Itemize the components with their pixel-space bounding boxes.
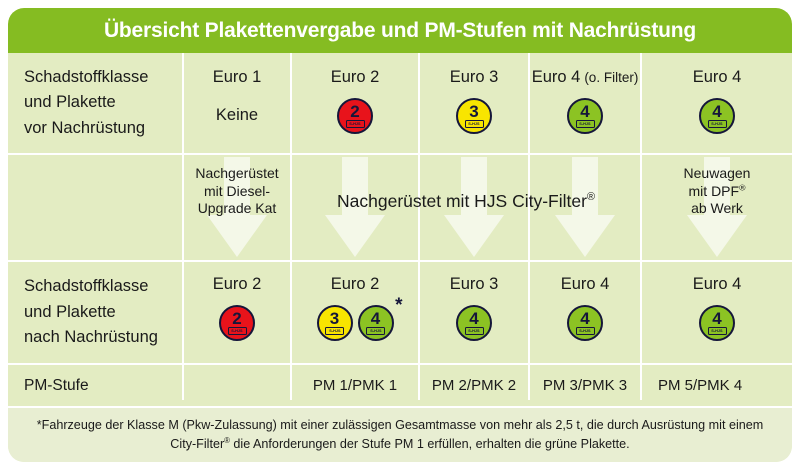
plakette-badge-green-4: 4 S-HJS: [567, 98, 603, 134]
footnote-line-1: *Fahrzeuge der Klasse M (Pkw-Zulassung) …: [37, 416, 764, 435]
cell-after-col1: Euro 2 2 S-HJS: [184, 262, 290, 363]
plakette-number: 4: [712, 104, 721, 119]
row-label-before-line3: vor Nachrüstung: [24, 116, 145, 142]
plakette-plate: S-HJS: [576, 327, 595, 335]
page-title: Übersicht Plakettenvergabe und PM-Stufen…: [104, 19, 696, 43]
plakette-plate: S-HJS: [346, 120, 365, 128]
cell-pm-col1: [184, 365, 290, 406]
cell-before-euro2: Euro 2 2 S-HJS: [292, 53, 418, 153]
row-separator-1: [8, 153, 792, 155]
plakette-group: 4 S-HJS: [699, 98, 735, 134]
plakette-group: 4 S-HJS: [567, 98, 603, 134]
euro-class-label: Euro 4: [693, 69, 742, 86]
plakette-number: 3: [469, 104, 478, 119]
footnote-line-2-a: City-Filter: [170, 437, 224, 451]
row-label-before-line1: Schadstoffklasse: [24, 65, 148, 91]
cell-pm-col3: PM 2/PMK 2: [420, 365, 528, 406]
plakette-badge-yellow-3: 3 S-HJS: [456, 98, 492, 134]
cell-pm-col4: PM 3/PMK 3: [530, 365, 640, 406]
pm-stufe-label: PM-Stufe: [24, 377, 89, 395]
footnote-line-2-b: die Anforderungen der Stufe PM 1 erfülle…: [230, 437, 630, 451]
cell-after-col4: Euro 4 4 S-HJS: [530, 262, 640, 363]
cell-after-col3: Euro 3 4 S-HJS: [420, 262, 528, 363]
cell-before-euro4: Euro 4 4 S-HJS: [642, 53, 792, 153]
plakette-plate: S-HJS: [465, 120, 484, 128]
plakette-plate: S-HJS: [576, 120, 595, 128]
row-label-after-line2: und Plakette: [24, 300, 116, 326]
plakette-group: 2 S-HJS: [219, 305, 255, 341]
retrofit-caption-line3: ab Werk: [642, 200, 792, 218]
registered-mark-icon: ®: [587, 191, 595, 203]
plakette-plate: S-HJS: [325, 327, 344, 335]
row-label-after-line1: Schadstoffklasse: [24, 274, 148, 300]
plakette-plate-text: S-HJS: [579, 329, 590, 333]
plakette-plate-text: S-HJS: [711, 122, 722, 126]
plakette-badge-red-2: 2 S-HJS: [219, 305, 255, 341]
footnote-block: *Fahrzeuge der Klasse M (Pkw-Zulassung) …: [8, 408, 792, 462]
footnote-line-2: City-Filter® die Anforderungen der Stufe…: [170, 435, 629, 454]
retrofit-caption-neuwagen-dpf: Neuwagen mit DPF® ab Werk: [642, 165, 792, 218]
plakette-group: 3 S-HJS: [456, 98, 492, 134]
plakette-number: 4: [580, 104, 589, 119]
plakette-group: 3 S-HJS 4 S-HJS *: [317, 305, 394, 341]
plakette-group: 2 S-HJS: [337, 98, 373, 134]
plakette-badge-green-4: 4 S-HJS: [699, 305, 735, 341]
retrofit-caption-line3: Upgrade Kat: [184, 200, 290, 218]
plakette-badge-yellow-3: 3 S-HJS: [317, 305, 353, 341]
plakette-number: 3: [330, 311, 339, 326]
row-label-before-line2: und Plakette: [24, 90, 116, 116]
plakette-badge-green-4: 4 S-HJS: [699, 98, 735, 134]
row-label-before-retrofit: Schadstoffklasse und Plakette vor Nachrü…: [8, 53, 182, 153]
plakette-none-label: Keine: [216, 106, 258, 125]
plakette-number: 4: [469, 311, 478, 326]
euro-class-label: Euro 3: [450, 69, 499, 86]
retrofit-caption-diesel-upgrade-kat: Nachgerüstet mit Diesel- Upgrade Kat: [184, 165, 290, 218]
euro-class-label: Euro 4(o. Filter): [532, 69, 639, 86]
retrofit-caption-line1: Neuwagen: [642, 165, 792, 183]
title-bar: Übersicht Plakettenvergabe und PM-Stufen…: [8, 8, 792, 53]
plakette-plate-text: S-HJS: [370, 329, 381, 333]
plakette-group: 4 S-HJS: [567, 305, 603, 341]
cell-before-euro1: Euro 1 Keine: [184, 53, 290, 153]
euro-class-label: Euro 2: [331, 69, 380, 86]
plakette-number: 4: [371, 311, 380, 326]
plakette-plate: S-HJS: [366, 327, 385, 335]
cell-pm-col2: PM 1/PMK 1: [292, 365, 418, 406]
infographic-root: Übersicht Plakettenvergabe und PM-Stufen…: [0, 0, 800, 470]
retrofit-caption-line2-text: mit DPF: [689, 183, 740, 199]
plakette-plate-text: S-HJS: [349, 122, 360, 126]
euro-class-label: Euro 4: [693, 276, 742, 293]
footnote-asterisk-marker: *: [395, 300, 402, 312]
euro-class-main: Euro 4: [532, 68, 581, 86]
plakette-number: 4: [712, 311, 721, 326]
plakette-number: 2: [350, 104, 359, 119]
pm-value: PM 3/PMK 3: [543, 377, 627, 394]
cell-before-euro3: Euro 3 3 S-HJS: [420, 53, 528, 153]
table-grid: Schadstoffklasse und Plakette vor Nachrü…: [8, 53, 792, 408]
plakette-plate: S-HJS: [708, 327, 727, 335]
plakette-group: 4 S-HJS: [699, 305, 735, 341]
plakette-plate-text: S-HJS: [231, 329, 242, 333]
infographic-card: Übersicht Plakettenvergabe und PM-Stufen…: [8, 8, 792, 462]
euro-class-sub: (o. Filter): [584, 70, 638, 85]
retrofit-banner-text: Nachgerüstet mit HJS City-Filter: [337, 191, 587, 211]
retrofit-caption-line1: Nachgerüstet: [184, 165, 290, 183]
plakette-number: 2: [232, 311, 241, 326]
cell-after-col5: Euro 4 4 S-HJS: [642, 262, 792, 363]
pm-value: PM 5/PMK 4: [658, 377, 742, 394]
plakette-plate-text: S-HJS: [579, 122, 590, 126]
plakette-plate-text: S-HJS: [711, 329, 722, 333]
retrofit-banner-hjs-city-filter: Nachgerüstet mit HJS City-Filter®: [292, 191, 640, 212]
plakette-plate-text: S-HJS: [468, 122, 479, 126]
registered-mark-icon: ®: [739, 182, 745, 192]
plakette-badge-green-4: 4 S-HJS: [456, 305, 492, 341]
cell-before-euro4-ohne-filter: Euro 4(o. Filter) 4 S-HJS: [530, 53, 640, 153]
euro-class-label: Euro 2: [331, 276, 380, 293]
row-label-after-retrofit: Schadstoffklasse und Plakette nach Nachr…: [8, 262, 182, 363]
plakette-plate-text: S-HJS: [329, 329, 340, 333]
pm-value: PM 2/PMK 2: [432, 377, 516, 394]
row-label-pm-stufe: PM-Stufe: [8, 365, 182, 406]
plakette-badge-green-4: 4 S-HJS: [567, 305, 603, 341]
retrofit-caption-line2: mit DPF®: [642, 183, 792, 201]
row-label-after-line3: nach Nachrüstung: [24, 325, 158, 351]
plakette-group: 4 S-HJS: [456, 305, 492, 341]
cell-after-col2: Euro 2 3 S-HJS 4 S-HJS *: [292, 262, 418, 363]
euro-class-label: Euro 2: [213, 276, 262, 293]
plakette-plate: S-HJS: [465, 327, 484, 335]
pm-value: PM 1/PMK 1: [313, 377, 397, 394]
plakette-badge-red-2: 2 S-HJS: [337, 98, 373, 134]
plakette-number: 4: [580, 311, 589, 326]
euro-class-label: Euro 3: [450, 276, 499, 293]
plakette-plate: S-HJS: [708, 120, 727, 128]
plakette-plate-text: S-HJS: [468, 329, 479, 333]
cell-pm-col5: PM 5/PMK 4: [642, 365, 792, 406]
euro-class-label: Euro 1: [213, 69, 262, 86]
plakette-plate: S-HJS: [228, 327, 247, 335]
retrofit-caption-line2: mit Diesel-: [184, 183, 290, 201]
euro-class-label: Euro 4: [561, 276, 610, 293]
plakette-badge-green-4: 4 S-HJS *: [358, 305, 394, 341]
